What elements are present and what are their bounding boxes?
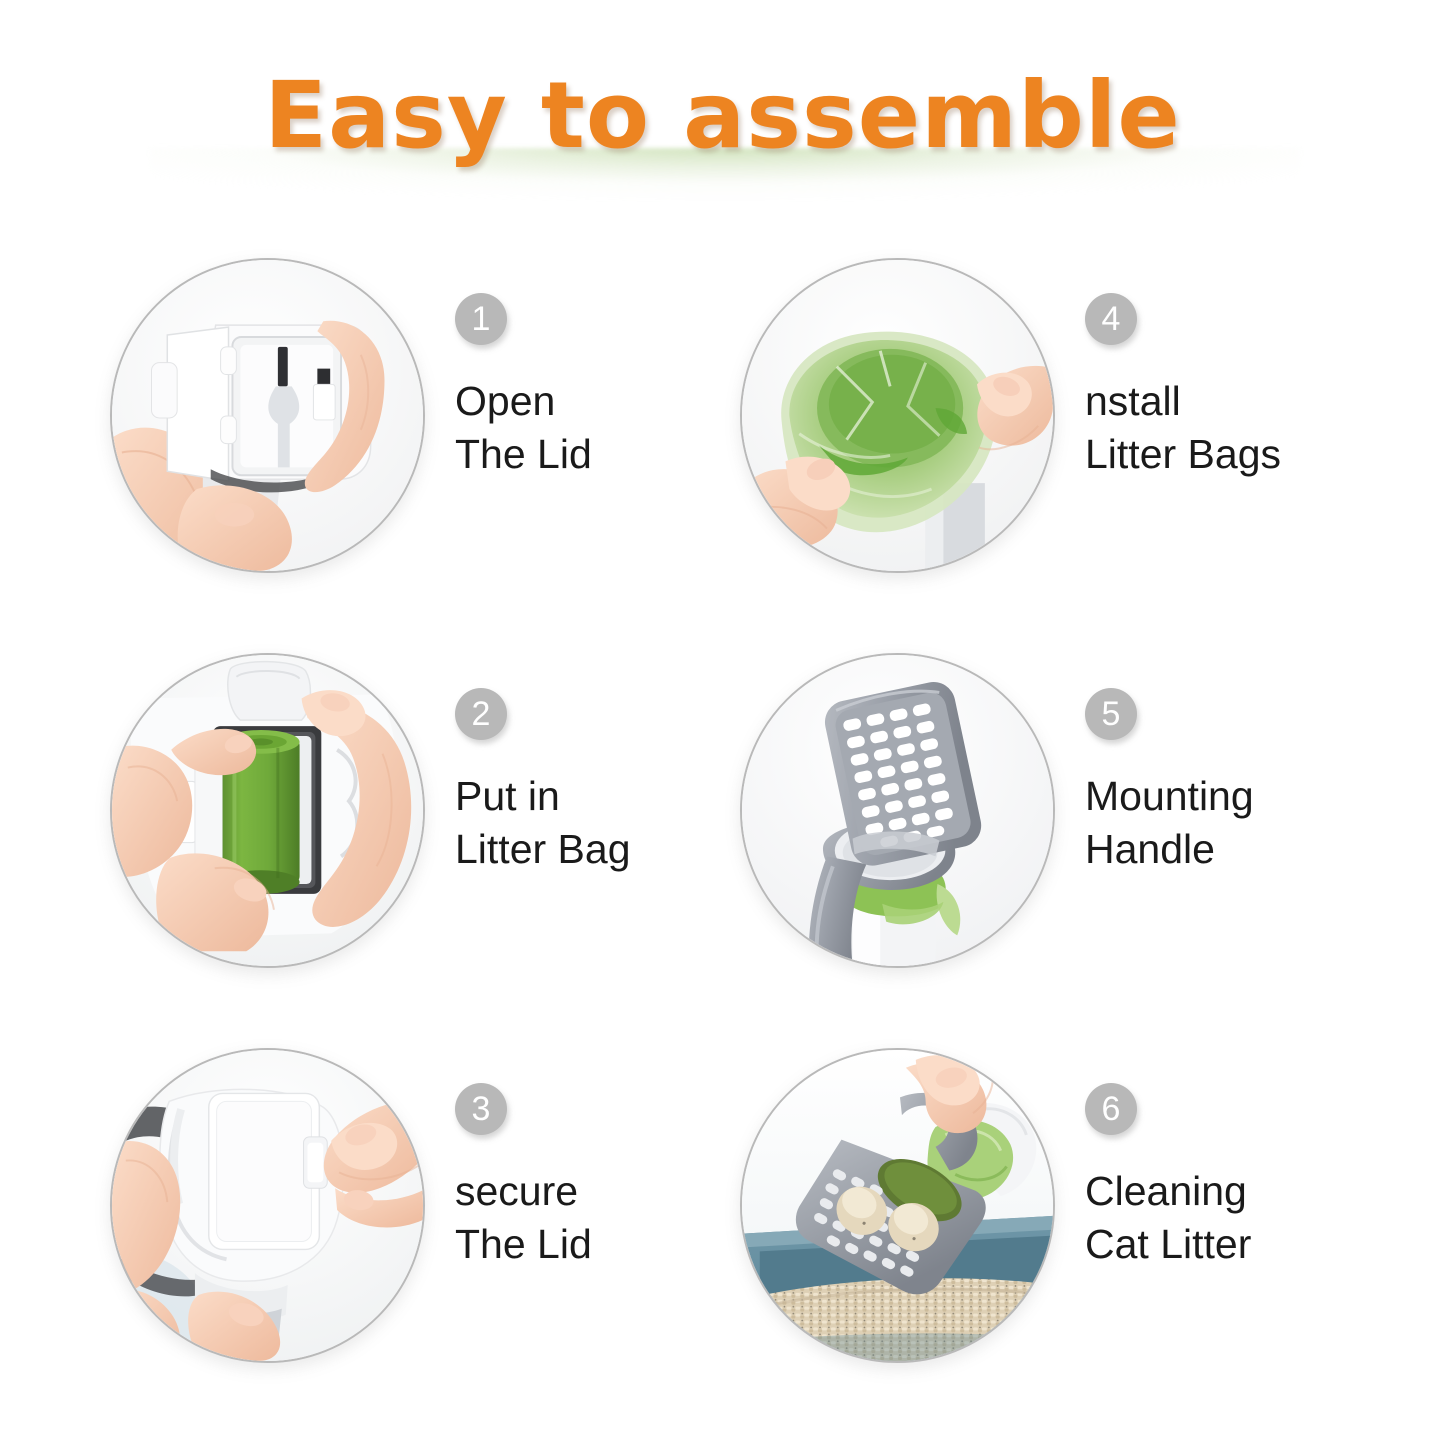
step-4: 4 nstall Litter Bags [725, 243, 1355, 633]
photo-cleaning-cat-litter [740, 1048, 1055, 1363]
step-5-badge: 5 [1085, 688, 1137, 740]
step-3-badge: 3 [455, 1083, 507, 1135]
photo-put-in-litter-bag [110, 653, 425, 968]
photo-secure-the-lid [110, 1048, 425, 1363]
photo-install-litter-bags [740, 258, 1055, 573]
step-4-caption: 4 nstall Litter Bags [1085, 293, 1350, 482]
photo-mounting-handle [740, 653, 1055, 968]
step-2-label: Put in Litter Bag [455, 770, 720, 877]
step-2-caption: 2 Put in Litter Bag [455, 688, 720, 877]
step-4-label: nstall Litter Bags [1085, 375, 1350, 482]
step-4-badge: 4 [1085, 293, 1137, 345]
step-1-caption: 1 Open The Lid [455, 293, 720, 482]
page-header: Easy to assemble [0, 0, 1445, 215]
step-5-caption: 5 Mounting Handle [1085, 688, 1350, 877]
step-6-label: Cleaning Cat Litter [1085, 1165, 1350, 1272]
step-3-label: secure The Lid [455, 1165, 720, 1272]
step-3: 3 secure The Lid [95, 1033, 725, 1423]
step-2: 2 Put in Litter Bag [95, 638, 725, 1028]
assembly-steps-grid: 1 Open The Lid [0, 215, 1445, 1445]
step-5-label: Mounting Handle [1085, 770, 1350, 877]
step-1-badge: 1 [455, 293, 507, 345]
step-1: 1 Open The Lid [95, 243, 725, 633]
step-6: 6 Cleaning Cat Litter [725, 1033, 1355, 1423]
step-1-label: Open The Lid [455, 375, 720, 482]
photo-open-the-lid [110, 258, 425, 573]
page-title: Easy to assemble [0, 62, 1445, 169]
step-6-badge: 6 [1085, 1083, 1137, 1135]
step-5: 5 Mounting Handle [725, 638, 1355, 1028]
step-3-caption: 3 secure The Lid [455, 1083, 720, 1272]
step-6-caption: 6 Cleaning Cat Litter [1085, 1083, 1350, 1272]
step-2-badge: 2 [455, 688, 507, 740]
